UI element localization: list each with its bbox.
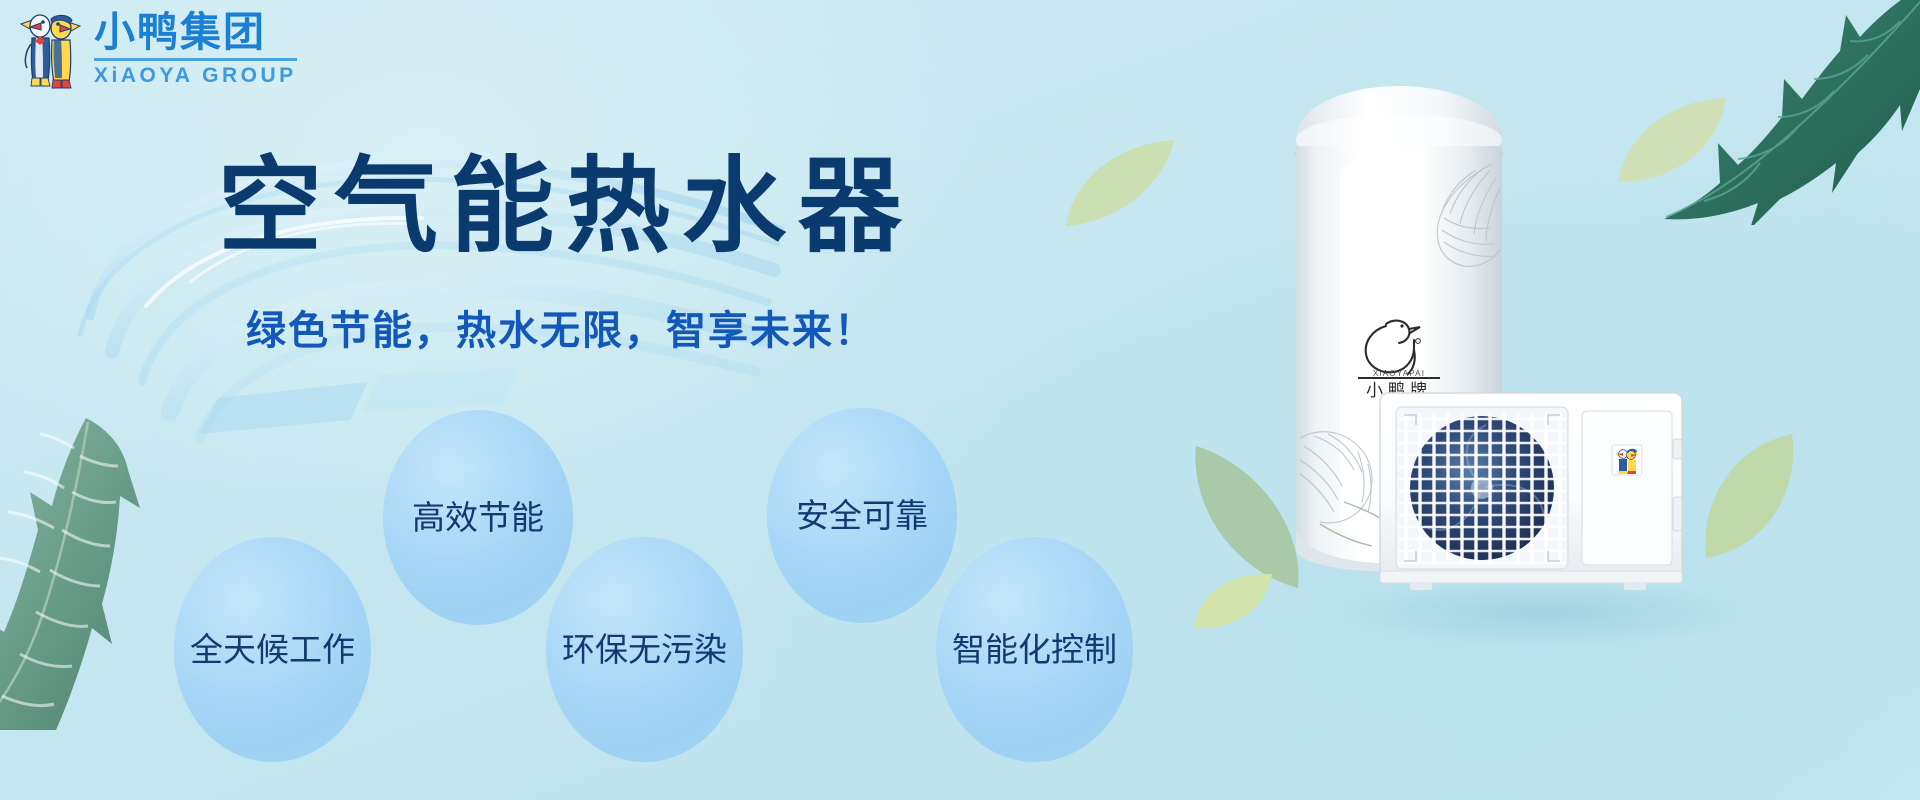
feature-bubble-label: 环保无污染: [562, 631, 727, 669]
page-title: 空气能热水器: [0, 150, 1120, 262]
feature-bubble-efficient[interactable]: 高效节能: [383, 410, 573, 625]
logo-text-cn: 小鸭集团: [94, 12, 297, 53]
floating-leaf: [1302, 420, 1388, 484]
logo-divider: [94, 58, 297, 61]
feature-bubble-label: 智能化控制: [952, 631, 1117, 669]
page-subtitle: 绿色节能，热水无限，智享未来！: [0, 298, 1120, 356]
hero-text-block: 空气能热水器 绿色节能，热水无限，智享未来！: [0, 150, 1120, 356]
feature-bubble-eco[interactable]: 环保无污染: [546, 537, 743, 762]
floating-leaf: [1420, 388, 1516, 444]
floating-leaf: [1610, 90, 1730, 186]
product-imagery: XIAOYAPAI 小鸭牌: [1180, 0, 1920, 800]
brand-logo[interactable]: 小鸭集团 XiAOYA GROUP: [18, 8, 297, 90]
floating-leaf: [1182, 440, 1312, 590]
feature-bubble-smart[interactable]: 智能化控制: [936, 537, 1133, 762]
floating-leaf: [1190, 570, 1276, 632]
product-shadow: [1330, 578, 1760, 648]
feature-bubble-label: 安全可靠: [796, 497, 928, 535]
hero-banner: 小鸭集团 XiAOYA GROUP 空气能热水器 绿色节能，热水无限，智享未来！…: [0, 0, 1920, 800]
feature-bubble-safe[interactable]: 安全可靠: [767, 408, 957, 623]
duck-mascot-pair-icon: [18, 8, 84, 90]
monstera-leaf: [1600, 0, 1920, 225]
feature-bubble-label: 高效节能: [412, 499, 544, 537]
feature-bubble-allweather[interactable]: 全天候工作: [174, 537, 371, 762]
floating-leaf: [1696, 430, 1806, 560]
feature-bubble-label: 全天候工作: [190, 631, 355, 669]
tank-brand-en: XIAOYAPAI: [1373, 369, 1425, 378]
air-source-water-heater-tank: XIAOYAPAI 小鸭牌: [1284, 78, 1514, 573]
heat-pump-outdoor-unit: [1376, 385, 1686, 600]
tank-brand-cn: 小鸭牌: [1366, 381, 1432, 401]
logo-text-en: XiAOYA GROUP: [94, 65, 297, 86]
